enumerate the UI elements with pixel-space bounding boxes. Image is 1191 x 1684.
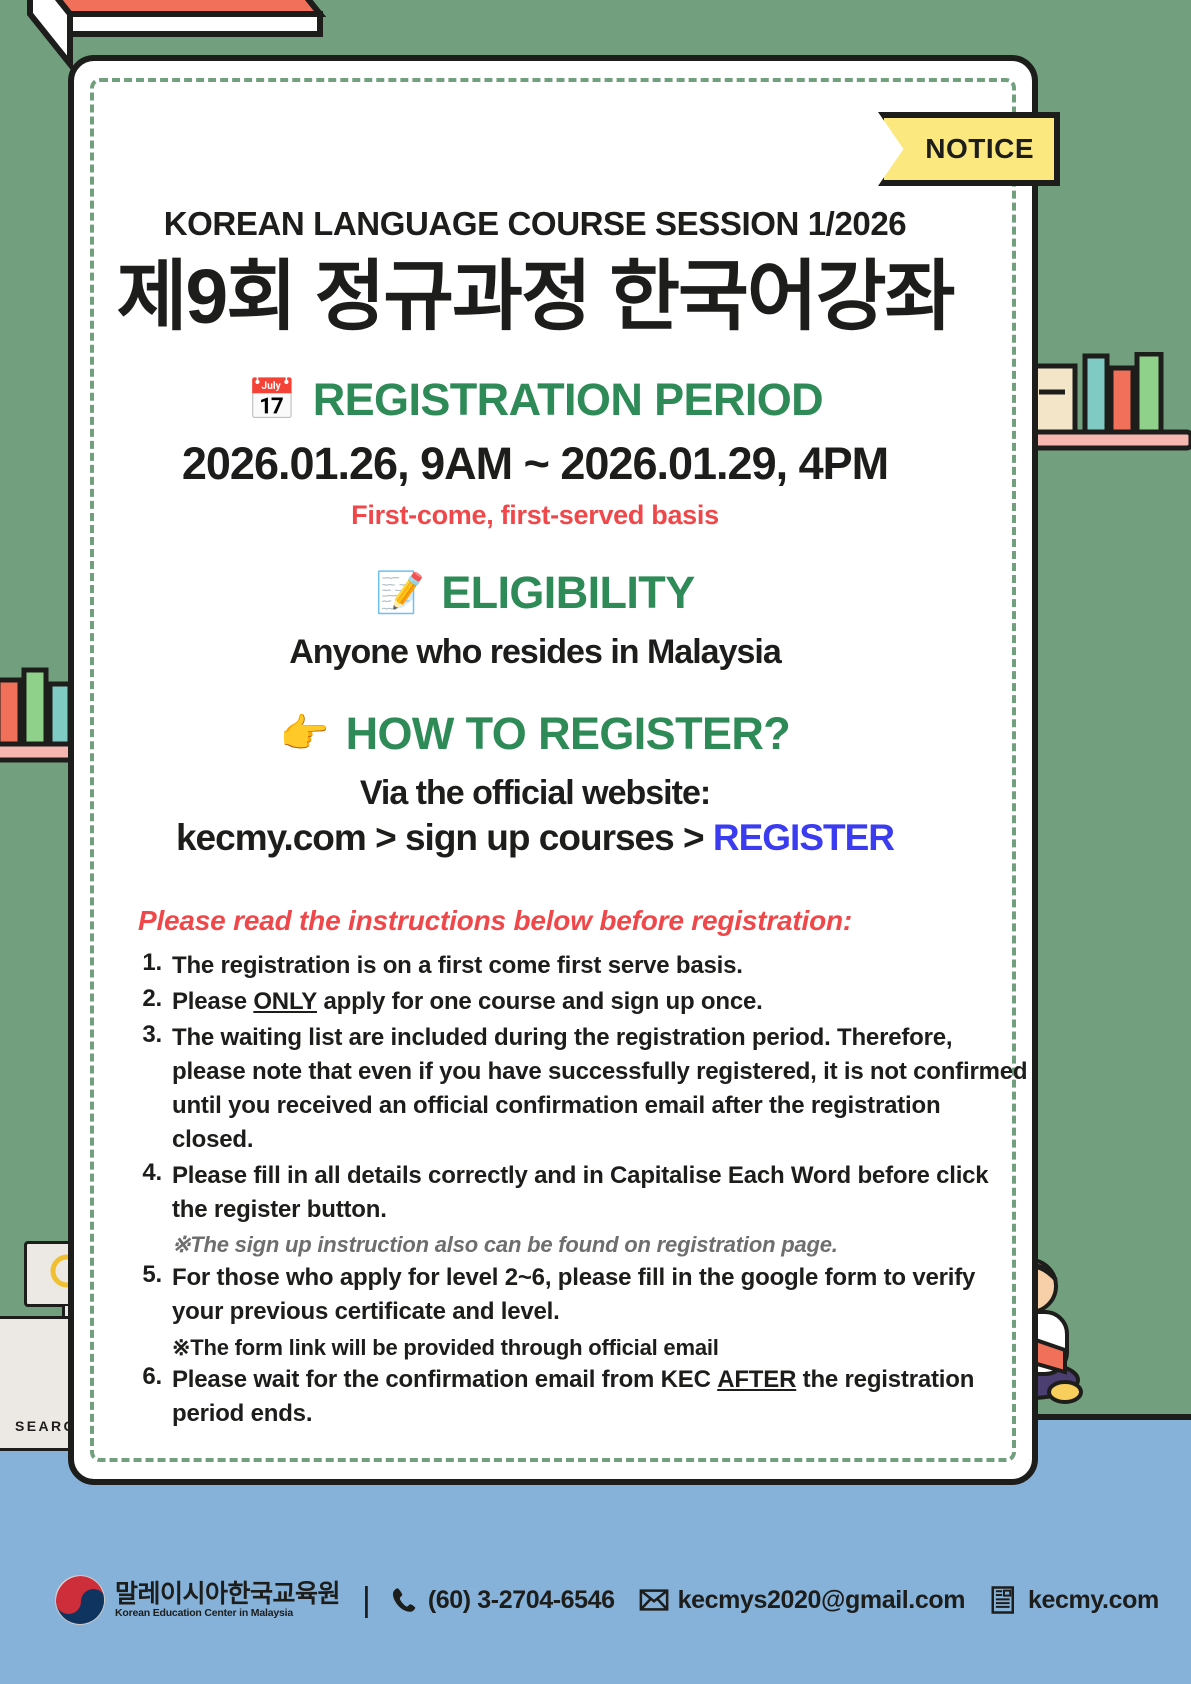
footer-website: kecmy.com — [989, 1585, 1159, 1615]
eligibility-text: Anyone who resides in Malaysia — [110, 633, 960, 672]
course-eyebrow: KOREAN LANGUAGE COURSE SESSION 1/2026 — [110, 205, 960, 243]
envelope-icon — [639, 1585, 669, 1615]
footer-contact-bar: 말레이시아한국교육원 Korean Education Center in Ma… — [0, 1554, 1191, 1646]
list-item: 1. The registration is on a first come f… — [128, 949, 1028, 983]
list-item-number: 5. — [128, 1261, 162, 1329]
list-item-number: 4. — [128, 1159, 162, 1227]
taegeuk-swirl-blue — [81, 1589, 105, 1614]
list-item-text: The waiting list are included during the… — [162, 1021, 1028, 1157]
section-eligibility-header: 📝 ELIGIBILITY — [110, 567, 960, 619]
list-item-note: ※The form link will be provided through … — [128, 1332, 1028, 1364]
list-item-emphasis: AFTER — [717, 1366, 796, 1393]
pointing-hand-icon: 👉 — [280, 714, 330, 754]
taegeuk-swirl-red — [56, 1589, 81, 1614]
notepad-pencil-icon: 📝 — [375, 573, 425, 613]
instructions-list: 1. The registration is on a first come f… — [128, 949, 1028, 1432]
instructions-heading: Please read the instructions below befor… — [138, 905, 1080, 937]
list-item: 6. Please wait for the confirmation emai… — [128, 1363, 1028, 1431]
poster-root: SEARCH NOTICE KOREAN LANGUAGE COURSE SES… — [0, 0, 1191, 1684]
list-item-text: The registration is on a first come firs… — [162, 949, 743, 983]
footer-divider: | — [362, 1581, 371, 1620]
footer-email: kecmys2020@gmail.com — [639, 1585, 965, 1615]
list-item-note: ※The sign up instruction also can be fou… — [128, 1229, 1028, 1261]
list-item-post: apply for one course and sign up once. — [317, 988, 763, 1015]
registration-path-prefix: kecmy.com > sign up courses > — [176, 817, 713, 858]
how-to-register-text: Via the official website: — [110, 774, 960, 813]
webpage-icon — [989, 1585, 1019, 1615]
section-registration-period-header: 📅 REGISTRATION PERIOD — [110, 374, 960, 426]
footer-phone-text: (60) 3-2704-6546 — [428, 1586, 615, 1615]
list-item-number: 1. — [128, 949, 162, 983]
kec-logo: 말레이시아한국교육원 Korean Education Center in Ma… — [55, 1575, 340, 1625]
page-title: 제9회 정규과정 한국어강좌 — [110, 257, 960, 338]
list-item: 4. Please fill in all details correctly … — [128, 1159, 1028, 1227]
list-item-emphasis: ONLY — [253, 988, 317, 1015]
section-eligibility-title: ELIGIBILITY — [441, 567, 694, 619]
registration-period-note: First-come, first-served basis — [110, 500, 960, 531]
list-item-text: Please fill in all details correctly and… — [162, 1159, 1028, 1227]
list-item: 2. Please ONLY apply for one course and … — [128, 985, 1028, 1019]
list-item-text: Please wait for the confirmation email f… — [162, 1363, 1028, 1431]
org-name-en: Korean Education Center in Malaysia — [115, 1607, 340, 1619]
phone-icon — [389, 1585, 419, 1615]
footer-phone: (60) 3-2704-6546 — [389, 1585, 615, 1615]
org-name-ko: 말레이시아한국교육원 — [115, 1581, 340, 1607]
list-item-number: 6. — [128, 1363, 162, 1431]
list-item-pre: Please — [172, 988, 253, 1015]
section-registration-period-title: REGISTRATION PERIOD — [313, 374, 823, 426]
footer-email-text: kecmys2020@gmail.com — [678, 1586, 965, 1615]
poster-content: KOREAN LANGUAGE COURSE SESSION 1/2026 제9… — [110, 95, 1080, 1434]
register-link[interactable]: REGISTER — [713, 817, 894, 858]
taegeuk-logo-icon — [55, 1575, 105, 1625]
registration-period-dates: 2026.01.26, 9AM ~ 2026.01.29, 4PM — [110, 438, 960, 490]
list-item-number: 2. — [128, 985, 162, 1019]
registration-path: kecmy.com > sign up courses > REGISTER — [110, 817, 960, 859]
section-how-to-register-title: HOW TO REGISTER? — [346, 708, 791, 760]
list-item-number: 3. — [128, 1021, 162, 1157]
list-item-pre: Please wait for the confirmation email f… — [172, 1366, 717, 1393]
list-item: 5. For those who apply for level 2~6, pl… — [128, 1261, 1028, 1329]
section-how-to-register-header: 👉 HOW TO REGISTER? — [110, 708, 960, 760]
list-item: 3. The waiting list are included during … — [128, 1021, 1028, 1157]
list-item-text: For those who apply for level 2~6, pleas… — [162, 1261, 1028, 1329]
footer-website-text: kecmy.com — [1028, 1586, 1159, 1615]
footer-bottom-strip — [0, 1644, 1191, 1684]
list-item-text: Please ONLY apply for one course and sig… — [162, 985, 763, 1019]
calendar-icon: 📅 — [247, 380, 297, 420]
